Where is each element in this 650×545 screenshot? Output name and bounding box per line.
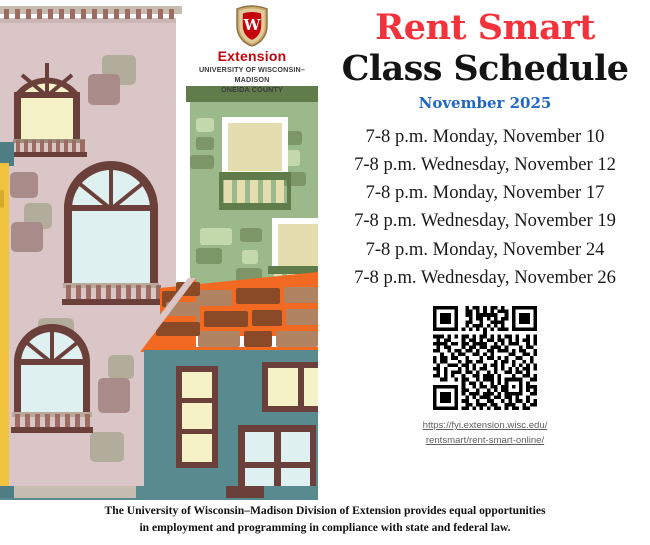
green-window-upper (219, 117, 291, 210)
base-band-tan (12, 486, 136, 498)
yellow-strip (0, 163, 9, 494)
teal-window-double (262, 362, 318, 412)
logo-university-text: UNIVERSITY OF WISCONSIN–MADISON (186, 65, 318, 84)
base-band-brown (226, 486, 264, 498)
list-item: 7-8 p.m. Monday, November 24 (320, 236, 650, 264)
arched-window-blue (62, 161, 162, 305)
decor-block (11, 222, 43, 252)
decor-block (108, 355, 134, 379)
decor-block (98, 378, 130, 413)
footer-line-1: The University of Wisconsin–Madison Divi… (0, 503, 650, 520)
registration-link[interactable]: https://fyi.extension.wisc.edu/ rentsmar… (423, 419, 548, 449)
teal-accent-block (0, 142, 14, 166)
list-item: 7-8 p.m. Wednesday, November 12 (320, 151, 650, 179)
link-line-1: https://fyi.extension.wisc.edu/ (423, 419, 548, 434)
page-title: Class Schedule (320, 51, 650, 88)
link-line-2: rentsmart/rent-smart-online/ (423, 434, 548, 449)
logo-county-text: ONEIDA COUNTY (186, 85, 318, 95)
schedule-month: November 2025 (320, 94, 650, 112)
uw-crest-icon: W (233, 4, 271, 48)
content-column: Rent Smart Class Schedule November 2025 … (320, 0, 650, 500)
program-title: Rent Smart (320, 10, 650, 47)
logo-extension-text: Extension (186, 49, 318, 64)
footer-line-2: in employment and programming in complia… (0, 520, 650, 537)
list-item: 7-8 p.m. Wednesday, November 26 (320, 264, 650, 292)
qr-code-wrapper (320, 306, 650, 410)
teal-window-triple (176, 366, 218, 468)
rent-smart-flyer: W Extension UNIVERSITY OF WISCONSIN–MADI… (0, 0, 650, 545)
decor-block (10, 172, 38, 198)
decor-block (88, 74, 120, 105)
equal-opportunity-disclaimer: The University of Wisconsin–Madison Divi… (0, 503, 650, 537)
qr-code-icon (433, 306, 537, 410)
arched-window-blue-lower (11, 324, 93, 433)
decor-block (90, 432, 124, 462)
list-item: 7-8 p.m. Monday, November 17 (320, 179, 650, 207)
svg-text:W: W (243, 16, 262, 34)
list-item: 7-8 p.m. Monday, November 10 (320, 123, 650, 151)
class-schedule-list: 7-8 p.m. Monday, November 10 7-8 p.m. We… (320, 123, 650, 293)
extension-logo: W Extension UNIVERSITY OF WISCONSIN–MADI… (186, 4, 318, 95)
list-item: 7-8 p.m. Wednesday, November 19 (320, 207, 650, 235)
